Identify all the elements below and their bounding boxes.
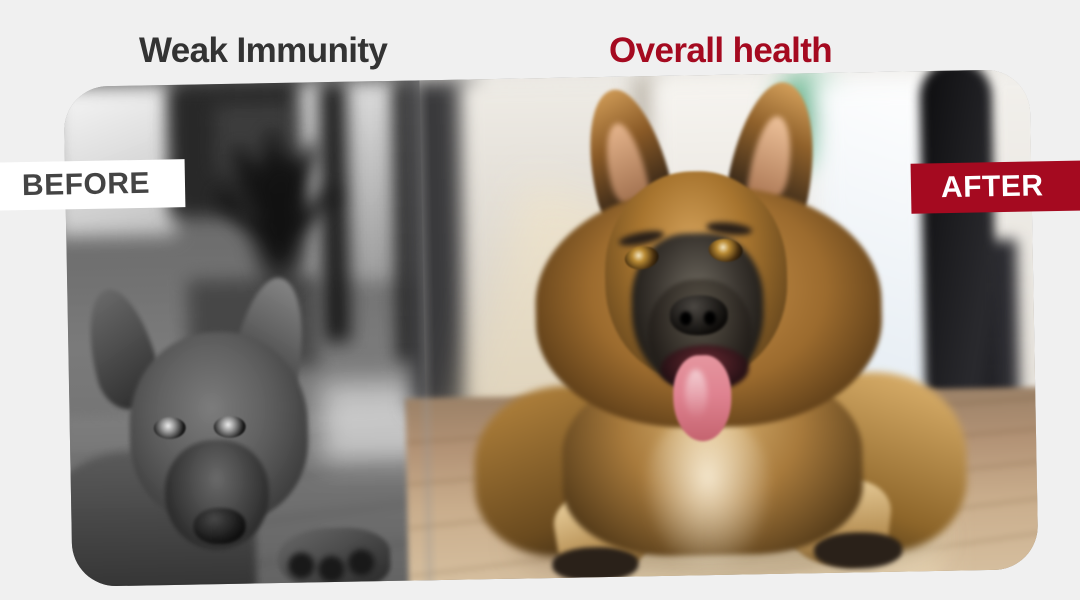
badge-before: BEFORE [0, 159, 185, 211]
panel-clip [63, 69, 1038, 587]
after-image [419, 69, 1038, 580]
before-image [63, 80, 428, 586]
after-dog [510, 79, 959, 579]
after-dog-paw-left [552, 546, 639, 582]
before-dog [63, 277, 396, 587]
badge-after: AFTER [911, 160, 1080, 213]
heading-weak-immunity: Weak Immunity [139, 33, 387, 68]
heading-overall-health: Overall health [609, 33, 832, 68]
before-dog-paw [278, 527, 391, 587]
after-scene [419, 69, 1038, 580]
after-dog-nose [669, 295, 728, 336]
before-after-panel [63, 69, 1038, 587]
badge-after-label: AFTER [941, 171, 1044, 203]
badge-before-label: BEFORE [22, 169, 151, 201]
before-dog-nose [193, 508, 246, 545]
before-scene [63, 80, 428, 586]
comparison-banner: Weak Immunity Overall health [0, 0, 1080, 600]
after-dog-paw-right [814, 532, 903, 570]
